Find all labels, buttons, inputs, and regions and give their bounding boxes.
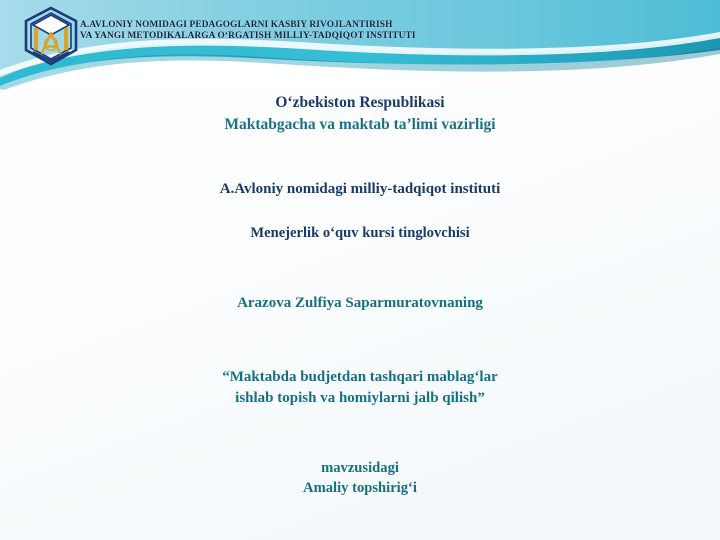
org-header-line-1: A.AVLONIY NOMIDAGI PEDAGOGLARNI KASBIY R…	[80, 20, 458, 31]
title-slide: A.AVLONIY NOMIDAGI PEDAGOGLARNI KASBIY R…	[0, 0, 720, 540]
institute-name: A.Avloniy nomidagi milliy-tadqiqot insti…	[0, 181, 720, 198]
organization-header: A.AVLONIY NOMIDAGI PEDAGOGLARNI KASBIY R…	[80, 20, 458, 43]
header-banner	[0, 0, 720, 90]
logo-pillar-left-icon	[34, 28, 38, 50]
ministry-line-1: O‘zbekiston Respublikasi	[0, 92, 720, 114]
assignment-line-2: Amaliy topshirig‘i	[0, 478, 720, 498]
institute-logo	[22, 6, 80, 66]
logo-pillar-right-icon	[64, 28, 68, 50]
slide-body: O‘zbekiston Respublikasi Maktabgacha va …	[0, 88, 720, 498]
topic-block: “Maktabda budjetdan tashqari mablag‘lar …	[0, 367, 720, 409]
assignment-line-1: mavzusidagi	[0, 458, 720, 478]
author-name: Arazova Zulfiya Saparmuratovnaning	[0, 295, 720, 312]
course-name: Menejerlik o‘quv kursi tinglovchisi	[0, 225, 720, 242]
ministry-block: O‘zbekiston Respublikasi Maktabgacha va …	[0, 92, 720, 136]
assignment-block: mavzusidagi Amaliy topshirig‘i	[0, 458, 720, 498]
topic-line-1: “Maktabda budjetdan tashqari mablag‘lar	[0, 367, 720, 388]
topic-line-2: ishlab topish va homiylarni jalb qilish”	[0, 388, 720, 409]
ministry-line-2: Maktabgacha va maktab ta’limi vazirligi	[0, 114, 720, 136]
org-header-line-2: VA YANGI METODIKALARGA O‘RGATISH MILLIY-…	[80, 31, 458, 42]
